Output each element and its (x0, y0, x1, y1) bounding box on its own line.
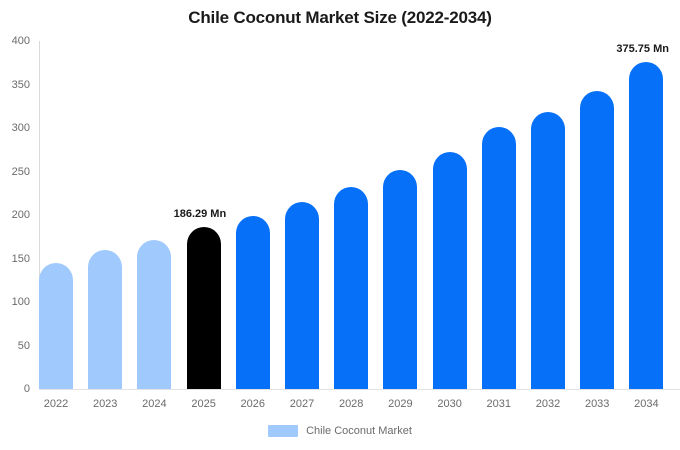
bar-2034[interactable] (629, 62, 663, 389)
bar-2028[interactable] (334, 187, 368, 389)
x-axis-line (39, 389, 680, 390)
x-axis-tick-label-2023: 2023 (93, 398, 117, 410)
chart-title: Chile Coconut Market Size (2022-2034) (0, 8, 680, 28)
value-label-2025: 186.29 Mn (174, 208, 227, 220)
x-axis-tick-label-2029: 2029 (388, 398, 412, 410)
y-axis-tick-label: 400 (0, 35, 30, 47)
legend-item[interactable]: Chile Coconut Market (268, 425, 412, 437)
bar-2031[interactable] (482, 127, 516, 389)
bar-2024[interactable] (137, 240, 171, 389)
x-axis-tick-label-2025: 2025 (191, 398, 215, 410)
x-axis-tick-label-2034: 2034 (634, 398, 658, 410)
x-axis-tick-label-2030: 2030 (437, 398, 461, 410)
y-axis-tick-label: 350 (0, 79, 30, 91)
bar-2025[interactable] (187, 227, 221, 389)
bar-2029[interactable] (383, 170, 417, 389)
bar-2027[interactable] (285, 202, 319, 389)
legend-swatch-icon (268, 425, 298, 437)
bar-2022[interactable] (39, 263, 73, 389)
x-axis-tick-label-2026: 2026 (241, 398, 265, 410)
x-axis-tick-label-2033: 2033 (585, 398, 609, 410)
x-axis-tick-label-2027: 2027 (290, 398, 314, 410)
bar-2030[interactable] (433, 152, 467, 390)
x-axis-tick-label-2032: 2032 (536, 398, 560, 410)
plot-area (39, 41, 680, 389)
bar-2033[interactable] (580, 91, 614, 389)
bar-2023[interactable] (88, 250, 122, 389)
value-label-2034: 375.75 Mn (616, 43, 669, 55)
y-axis-tick-label: 50 (0, 340, 30, 352)
x-axis-tick-label-2031: 2031 (487, 398, 511, 410)
legend-label: Chile Coconut Market (306, 425, 412, 437)
y-axis-tick-label: 0 (0, 383, 30, 395)
x-axis-tick-label-2024: 2024 (142, 398, 166, 410)
y-axis-tick-label: 200 (0, 209, 30, 221)
y-axis-tick-label: 150 (0, 253, 30, 265)
x-axis-tick-label-2028: 2028 (339, 398, 363, 410)
bar-2026[interactable] (236, 216, 270, 389)
chart-container: Chile Coconut Market Size (2022-2034) 05… (0, 0, 680, 450)
x-axis-tick-label-2022: 2022 (44, 398, 68, 410)
chart-legend: Chile Coconut Market (0, 425, 680, 437)
bar-2032[interactable] (531, 112, 565, 389)
y-axis-tick-label: 300 (0, 122, 30, 134)
y-axis-tick-label: 100 (0, 296, 30, 308)
y-axis-tick-label: 250 (0, 166, 30, 178)
